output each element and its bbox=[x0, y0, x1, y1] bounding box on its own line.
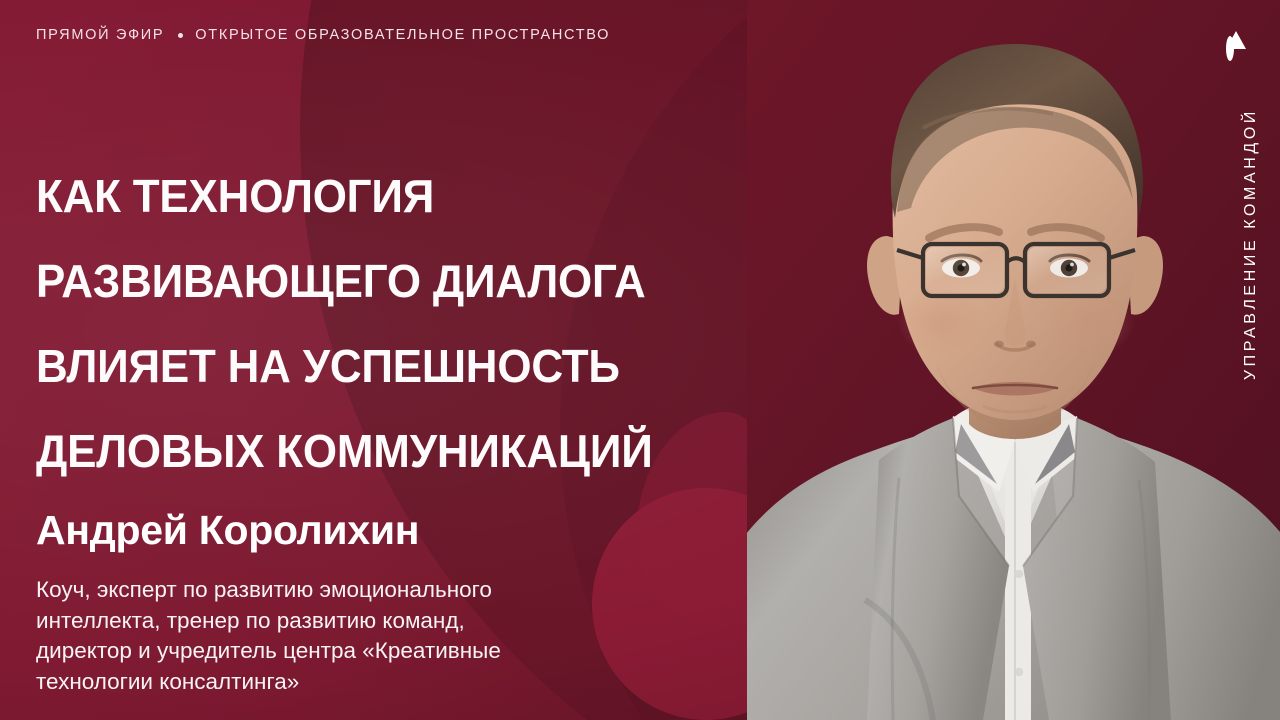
speaker-bio: Коуч, эксперт по развитию эмоционального… bbox=[36, 575, 636, 697]
vertical-category-label: УПРАВЛЕНИЕ КОМАНДОЙ bbox=[1238, 108, 1264, 488]
headline-line-4: ДЕЛОВЫХ КОММУНИКАЦИЙ bbox=[36, 409, 705, 494]
headline-line-2: РАЗВИВАЮЩЕГО ДИАЛОГА bbox=[36, 239, 705, 324]
triangle-shape-icon bbox=[1226, 14, 1247, 35]
headline-line-3: ВЛИЯЕТ НА УСПЕШНОСТЬ bbox=[36, 324, 705, 409]
eyebrow-program-label: ОТКРЫТОЕ ОБРАЗОВАТЕЛЬНОЕ ПРОСТРАНСТВО bbox=[195, 27, 610, 43]
diamond-shape-icon bbox=[1200, 14, 1221, 35]
vertical-category-text: УПРАВЛЕНИЕ КОМАНДОЙ bbox=[1242, 108, 1260, 380]
speaker-bio-line-4: технологии консалтинга» bbox=[36, 667, 636, 698]
speaker-bio-line-3: директор и учредитель центра «Креативные bbox=[36, 636, 636, 667]
bullet-separator-icon bbox=[178, 33, 183, 38]
page-title: КАК ТЕХНОЛОГИЯ РАЗВИВАЮЩЕГО ДИАЛОГА ВЛИЯ… bbox=[36, 154, 736, 494]
square-shape-icon bbox=[1200, 40, 1221, 61]
brand-logo bbox=[1200, 14, 1247, 61]
speaker-bio-line-2: интеллекта, тренер по развитию команд, bbox=[36, 606, 636, 637]
speaker-bio-line-1: Коуч, эксперт по развитию эмоционального bbox=[36, 575, 636, 606]
circle-ring-shape-icon bbox=[1226, 40, 1247, 61]
eyebrow-live-label: ПРЯМОЙ ЭФИР bbox=[36, 27, 164, 43]
speaker-name: Андрей Королихин bbox=[36, 507, 419, 554]
speaker-photo bbox=[747, 0, 1280, 720]
presentation-slide: ПРЯМОЙ ЭФИР ОТКРЫТОЕ ОБРАЗОВАТЕЛЬНОЕ ПРО… bbox=[0, 0, 1280, 720]
headline-line-1: КАК ТЕХНОЛОГИЯ bbox=[36, 154, 705, 239]
eyebrow-text: ПРЯМОЙ ЭФИР ОТКРЫТОЕ ОБРАЗОВАТЕЛЬНОЕ ПРО… bbox=[36, 27, 610, 43]
